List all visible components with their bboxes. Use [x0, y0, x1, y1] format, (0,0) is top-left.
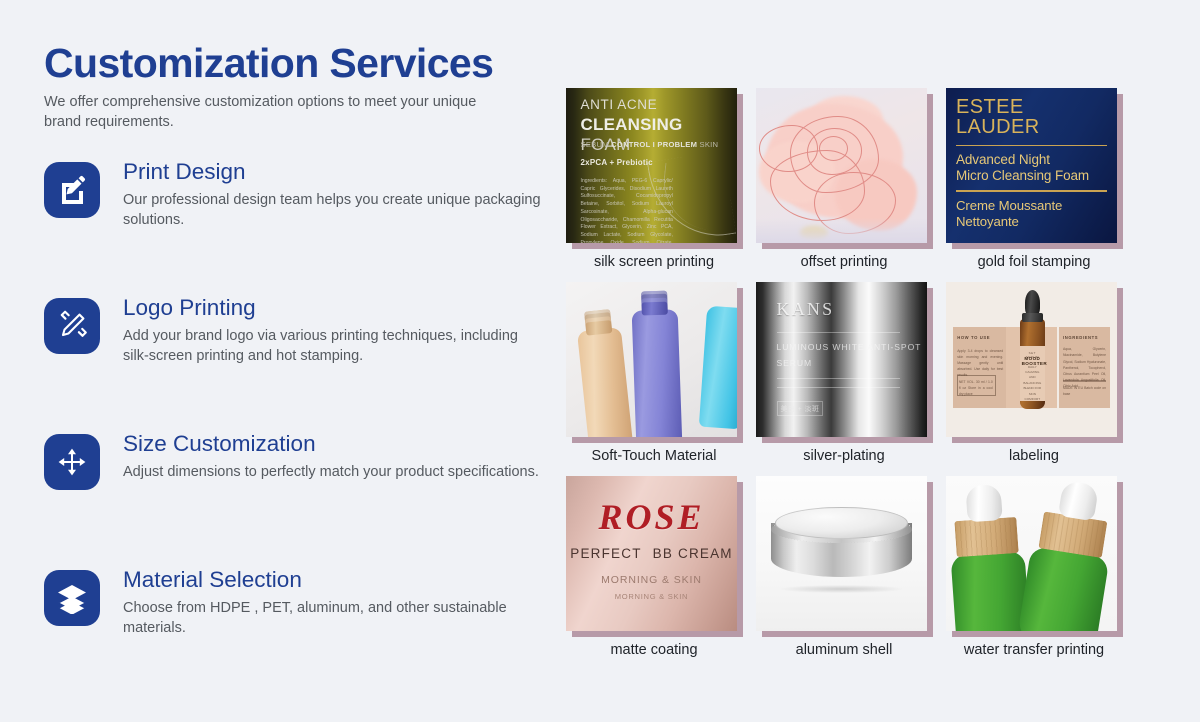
- pink-rose-line-art-image: [756, 88, 927, 243]
- label-line-4: 2xPCA + Prebiotic: [581, 158, 653, 167]
- tile-caption: labeling: [946, 448, 1122, 464]
- rubber-bulb-left: [966, 484, 1003, 522]
- thumbnail-frame: ANTI ACNE CLEANSING FOAM SEBUM CONTROL I…: [566, 88, 737, 243]
- kans-product-line-1: LUMINOUS WHITE ANTI-SPOT: [777, 342, 922, 352]
- purple-tube: [632, 309, 683, 437]
- olive-cleansing-foam-tube-image: ANTI ACNE CLEANSING FOAM SEBUM CONTROL I…: [566, 88, 737, 243]
- product-line-2: Micro Cleansing Foam: [956, 168, 1107, 184]
- product-line-1: Advanced Night: [956, 152, 1107, 168]
- rose-brand-title: ROSE: [566, 496, 737, 538]
- customization-services-page: Customization Services We offer comprehe…: [0, 0, 1200, 722]
- kans-brand-text: KANS: [777, 299, 835, 320]
- layers-stack-icon: [44, 570, 100, 626]
- tan-tube-body: [577, 326, 634, 437]
- left-label-heading: HOW TO USE: [957, 335, 990, 340]
- bottle-label-body: DAILY CALMING AND BALANCING BLEND FOR SK…: [1022, 365, 1043, 403]
- feature-title: Material Selection: [123, 566, 544, 593]
- divider-2: [777, 378, 900, 379]
- french-line-1: Creme Moussante: [956, 198, 1107, 214]
- left-label-body: Apply 3-4 drops to cleansed skin morning…: [957, 348, 1003, 379]
- cyan-tube: [699, 306, 737, 429]
- gallery-tile-gold-foil-stamping[interactable]: ESTEE LAUDER Advanced Night Micro Cleans…: [946, 88, 1122, 270]
- kans-product-line-2: SERUM: [777, 358, 813, 368]
- left-label-box-text: NET VOL. 30 ml / 1.0 fl oz Store in a co…: [959, 379, 993, 397]
- thumbnail-frame: ESTEE LAUDER Advanced Night Micro Cleans…: [946, 88, 1117, 243]
- feature-description: Our professional design team helps you c…: [123, 190, 543, 230]
- left-content-column: Customization Services We offer comprehe…: [44, 42, 544, 674]
- right-label-divider: [1063, 380, 1106, 381]
- thumbnail-frame: ROSE PERFECTBB CREAM MORNING & SKIN MORN…: [566, 476, 737, 631]
- thumbnail-frame: [756, 476, 927, 631]
- thumbnail-frame: [946, 476, 1117, 631]
- tile-caption: matte coating: [566, 642, 742, 658]
- pencil-square-icon: [44, 162, 100, 218]
- divider-3: [777, 387, 900, 388]
- gallery-tile-labeling[interactable]: HOW TO USE Apply 3-4 drops to cleansed s…: [946, 282, 1122, 464]
- four-way-arrows-icon: [44, 434, 100, 490]
- kans-silver-serum-bottle-image: KANS LUMINOUS WHITE ANTI-SPOT SERUM 美白 +…: [756, 282, 927, 437]
- product-gallery-grid: ANTI ACNE CLEANSING FOAM SEBUM CONTROL I…: [566, 88, 1166, 658]
- page-subtitle: We offer comprehensive customization opt…: [44, 92, 494, 132]
- gallery-tile-aluminum-shell[interactable]: aluminum shell: [756, 476, 932, 658]
- left-label-panel: HOW TO USE Apply 3-4 drops to cleansed s…: [953, 327, 1008, 408]
- aluminum-tin-jar-image: [756, 476, 927, 631]
- feature-description: Add your brand logo via various printing…: [123, 326, 543, 366]
- wood-cap-left: [955, 517, 1019, 557]
- feature-item-logo-printing[interactable]: Logo Printing Add your brand logo via va…: [44, 294, 544, 402]
- tile-caption: water transfer printing: [946, 642, 1122, 658]
- bottle-front-label: SET SERUM MOOD BOOSTER DAILY CALMING AND…: [1020, 346, 1046, 402]
- feature-list: Print Design Our professional design tea…: [44, 158, 544, 674]
- thumbnail-frame: KANS LUMINOUS WHITE ANTI-SPOT SERUM 美白 +…: [756, 282, 927, 437]
- tile-caption: gold foil stamping: [946, 254, 1122, 270]
- tile-caption: aluminum shell: [756, 642, 932, 658]
- gallery-tile-water-transfer-printing[interactable]: water transfer printing: [946, 476, 1122, 658]
- label-line-1: ANTI ACNE: [581, 97, 658, 112]
- right-label-heading: INGREDIENTS: [1063, 335, 1098, 340]
- tan-tube: [577, 326, 634, 437]
- feature-title: Size Customization: [123, 430, 544, 457]
- thumbnail-frame: [566, 282, 737, 437]
- tile-caption: silk screen printing: [566, 254, 742, 270]
- thumbnail-frame: [756, 88, 927, 243]
- right-label-body: Aqua, Glycerin, Niacinamide, Butylene Gl…: [1063, 346, 1106, 389]
- feature-item-material-selection[interactable]: Material Selection Choose from HDPE , PE…: [44, 566, 544, 674]
- kans-badge-text: 美白 + 淡斑: [777, 401, 824, 416]
- feature-title: Print Design: [123, 158, 544, 185]
- feature-description: Adjust dimensions to perfectly match you…: [123, 462, 543, 482]
- gallery-tile-silver-plating[interactable]: KANS LUMINOUS WHITE ANTI-SPOT SERUM 美白 +…: [756, 282, 932, 464]
- divider-1: [777, 332, 900, 333]
- brand-line-2: LAUDER: [956, 117, 1107, 137]
- feature-item-size-customization[interactable]: Size Customization Adjust dimensions to …: [44, 430, 544, 538]
- purple-tube-neck: [642, 290, 669, 315]
- rose-meta-line-1: MORNING & SKIN: [566, 574, 737, 586]
- right-label-footer: MADE IN EU Batch code on base: [1063, 385, 1106, 397]
- ingredients-text: Ingredients: Aqua, PEG-6 Caprylic/ Capri…: [581, 178, 673, 243]
- feature-description: Choose from HDPE , PET, aluminum, and ot…: [123, 598, 543, 638]
- purple-tube-body: [632, 309, 683, 437]
- green-dropper-bottles-wood-cap-image: [946, 476, 1117, 631]
- frosted-plastic-tubes-image: [566, 282, 737, 437]
- aluminum-tin: [771, 507, 911, 597]
- right-label-panel: INGREDIENTS Aqua, Glycerin, Niacinamide,…: [1059, 327, 1110, 408]
- tin-drop-shadow: [780, 585, 903, 593]
- gallery-tile-matte-coating[interactable]: ROSE PERFECTBB CREAM MORNING & SKIN MORN…: [566, 476, 742, 658]
- feature-title: Logo Printing: [123, 294, 544, 321]
- gold-divider-1: [956, 145, 1107, 146]
- rose-product-subtitle: PERFECTBB CREAM: [566, 546, 737, 561]
- rubber-bulb-right: [1058, 480, 1099, 521]
- amber-dropper-bottle-labels-image: HOW TO USE Apply 3-4 drops to cleansed s…: [946, 282, 1117, 437]
- feature-item-print-design[interactable]: Print Design Our professional design tea…: [44, 158, 544, 266]
- estee-lauder-navy-gold-box-image: ESTEE LAUDER Advanced Night Micro Cleans…: [946, 88, 1117, 243]
- tile-caption: offset printing: [756, 254, 932, 270]
- brand-line-1: ESTEE: [956, 97, 1107, 117]
- green-dropper-bottle-right: [1013, 476, 1117, 631]
- dropper-collar: [1022, 313, 1043, 322]
- rose-bb-cream-package-image: ROSE PERFECTBB CREAM MORNING & SKIN MORN…: [566, 476, 737, 631]
- tile-caption: Soft-Touch Material: [566, 448, 742, 464]
- thumbnail-frame: HOW TO USE Apply 3-4 drops to cleansed s…: [946, 282, 1117, 437]
- tan-tube-neck: [584, 309, 612, 335]
- gallery-tile-soft-touch-material[interactable]: Soft-Touch Material: [566, 282, 742, 464]
- label-line-3: SEBUM CONTROL I PROBLEM SKIN: [581, 140, 719, 149]
- rose-meta-line-2: MORNING & SKIN: [566, 592, 737, 601]
- page-title: Customization Services: [44, 42, 544, 85]
- gallery-tile-offset-printing[interactable]: offset printing: [756, 88, 932, 270]
- green-glass-right: [1017, 546, 1109, 631]
- tile-caption: silver-plating: [756, 448, 932, 464]
- pen-stamp-icon: [44, 298, 100, 354]
- label-line-2: CLEANSING FOAM: [581, 115, 737, 155]
- french-line-2: Nettoyante: [956, 214, 1107, 230]
- gallery-tile-silk-screen-printing[interactable]: ANTI ACNE CLEANSING FOAM SEBUM CONTROL I…: [566, 88, 742, 270]
- bottom-fade: [756, 218, 927, 243]
- gold-divider-2: [956, 190, 1107, 191]
